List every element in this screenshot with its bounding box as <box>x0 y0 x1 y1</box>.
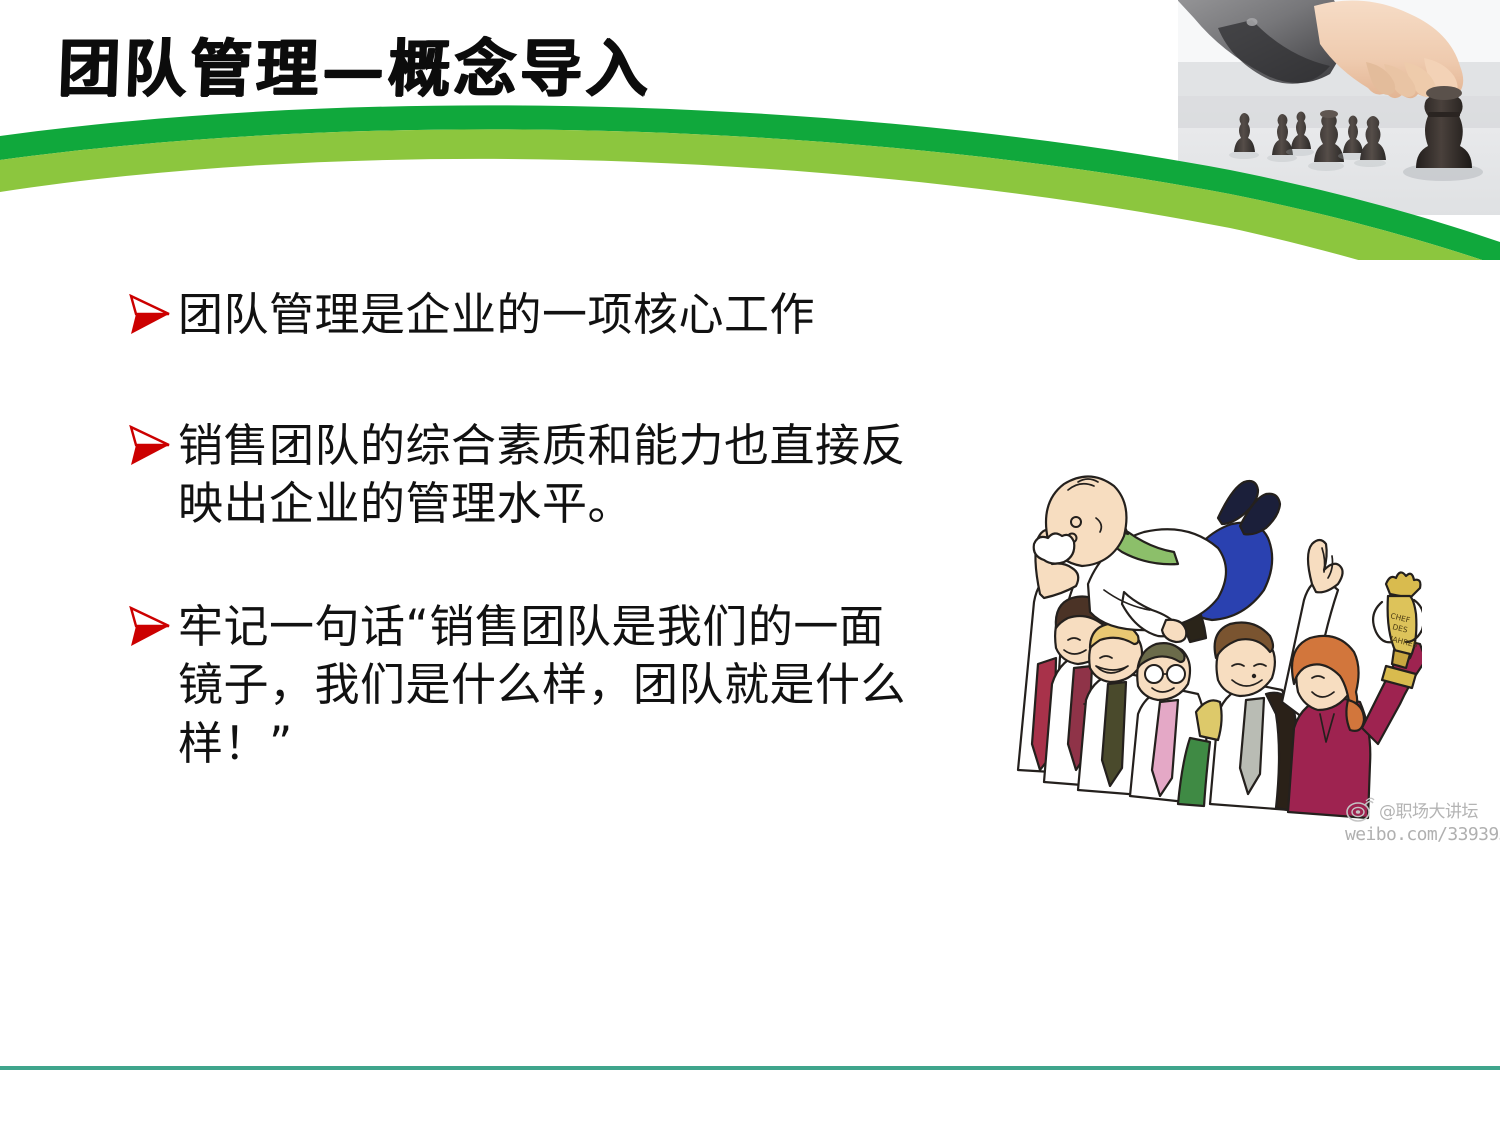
bullet-text: 团队管理是企业的一项核心工作 <box>178 286 928 345</box>
presentation-slide: 团队管理—概念导入 团队管理是企业的一项核心工作 销售团队的综合素质和能力也直接… <box>0 0 1500 1125</box>
bullet-list: 团队管理是企业的一项核心工作 销售团队的综合素质和能力也直接反映出企业的管理水平… <box>128 286 928 773</box>
red-arrowhead-icon <box>128 294 178 336</box>
slide-title: 团队管理—概念导入 <box>57 36 653 101</box>
bullet-item: 团队管理是企业的一项核心工作 <box>128 286 928 345</box>
bullet-text: 销售团队的综合素质和能力也直接反映出企业的管理水平。 <box>178 417 928 534</box>
bullet-text: 牢记一句话“销售团队是我们的一面镜子，我们是什么样，团队就是什么样！” <box>178 598 928 774</box>
red-arrowhead-icon <box>128 606 178 648</box>
bullet-item: 牢记一句话“销售团队是我们的一面镜子，我们是什么样，团队就是什么样！” <box>128 598 928 774</box>
header-chess-photo <box>1178 0 1500 215</box>
bullet-item: 销售团队的综合素质和能力也直接反映出企业的管理水平。 <box>128 417 928 534</box>
red-arrowhead-icon <box>128 425 178 467</box>
team-celebration-cartoon: .ln { stroke:#24201d; stroke-width:2.2; … <box>982 452 1422 852</box>
footer-rule <box>0 1066 1500 1070</box>
